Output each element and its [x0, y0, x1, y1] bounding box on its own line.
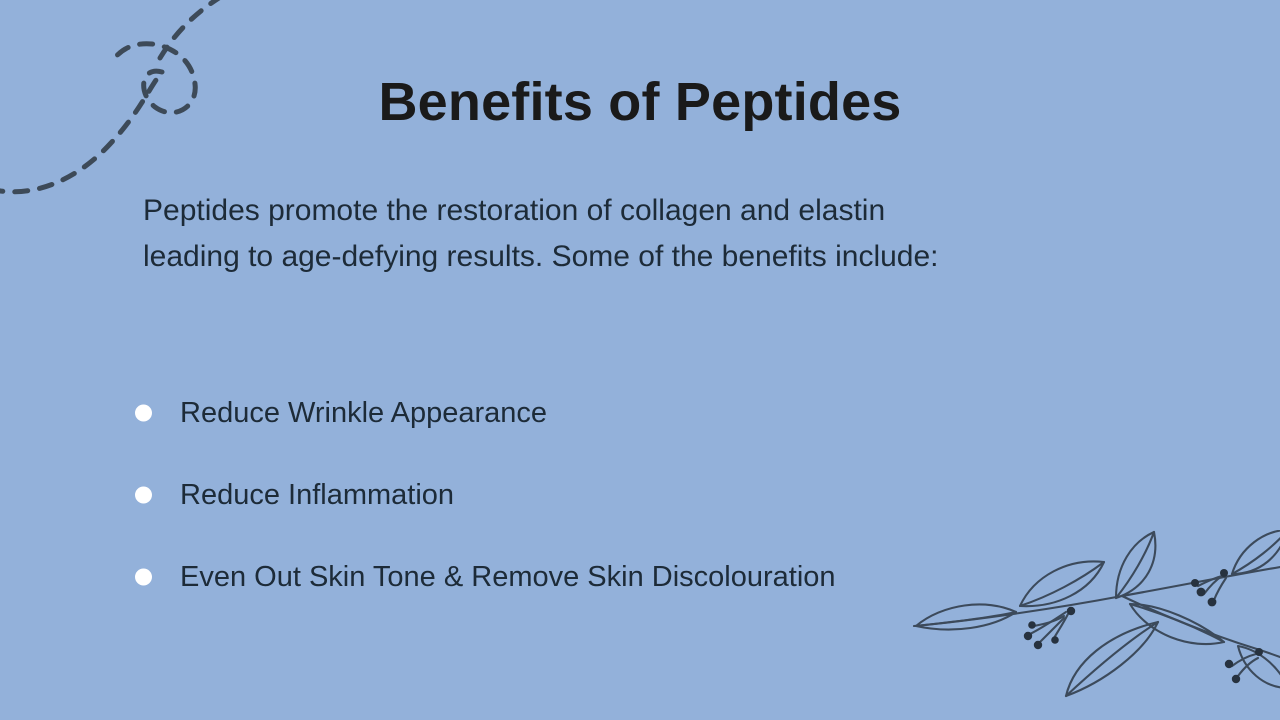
slide-title: Benefits of Peptides [0, 74, 1280, 131]
list-item-label: Reduce Inflammation [180, 478, 454, 512]
list-item: Even Out Skin Tone & Remove Skin Discolo… [133, 536, 1133, 618]
bullet-dot-icon [135, 405, 152, 422]
intro-line-2: leading to age-defying results. Some of … [143, 234, 1103, 280]
intro-line-1: Peptides promote the restoration of coll… [143, 188, 1103, 234]
bullet-dot-icon [135, 487, 152, 504]
slide-canvas: Benefits of Peptides Peptides promote th… [0, 0, 1280, 720]
list-item: Reduce Inflammation [133, 454, 1133, 536]
bullet-dot-icon [135, 569, 152, 586]
benefits-list: Reduce Wrinkle Appearance Reduce Inflamm… [133, 372, 1133, 618]
intro-paragraph: Peptides promote the restoration of coll… [143, 188, 1103, 280]
list-item-label: Reduce Wrinkle Appearance [180, 396, 547, 430]
list-item-label: Even Out Skin Tone & Remove Skin Discolo… [180, 560, 836, 594]
list-item: Reduce Wrinkle Appearance [133, 372, 1133, 454]
